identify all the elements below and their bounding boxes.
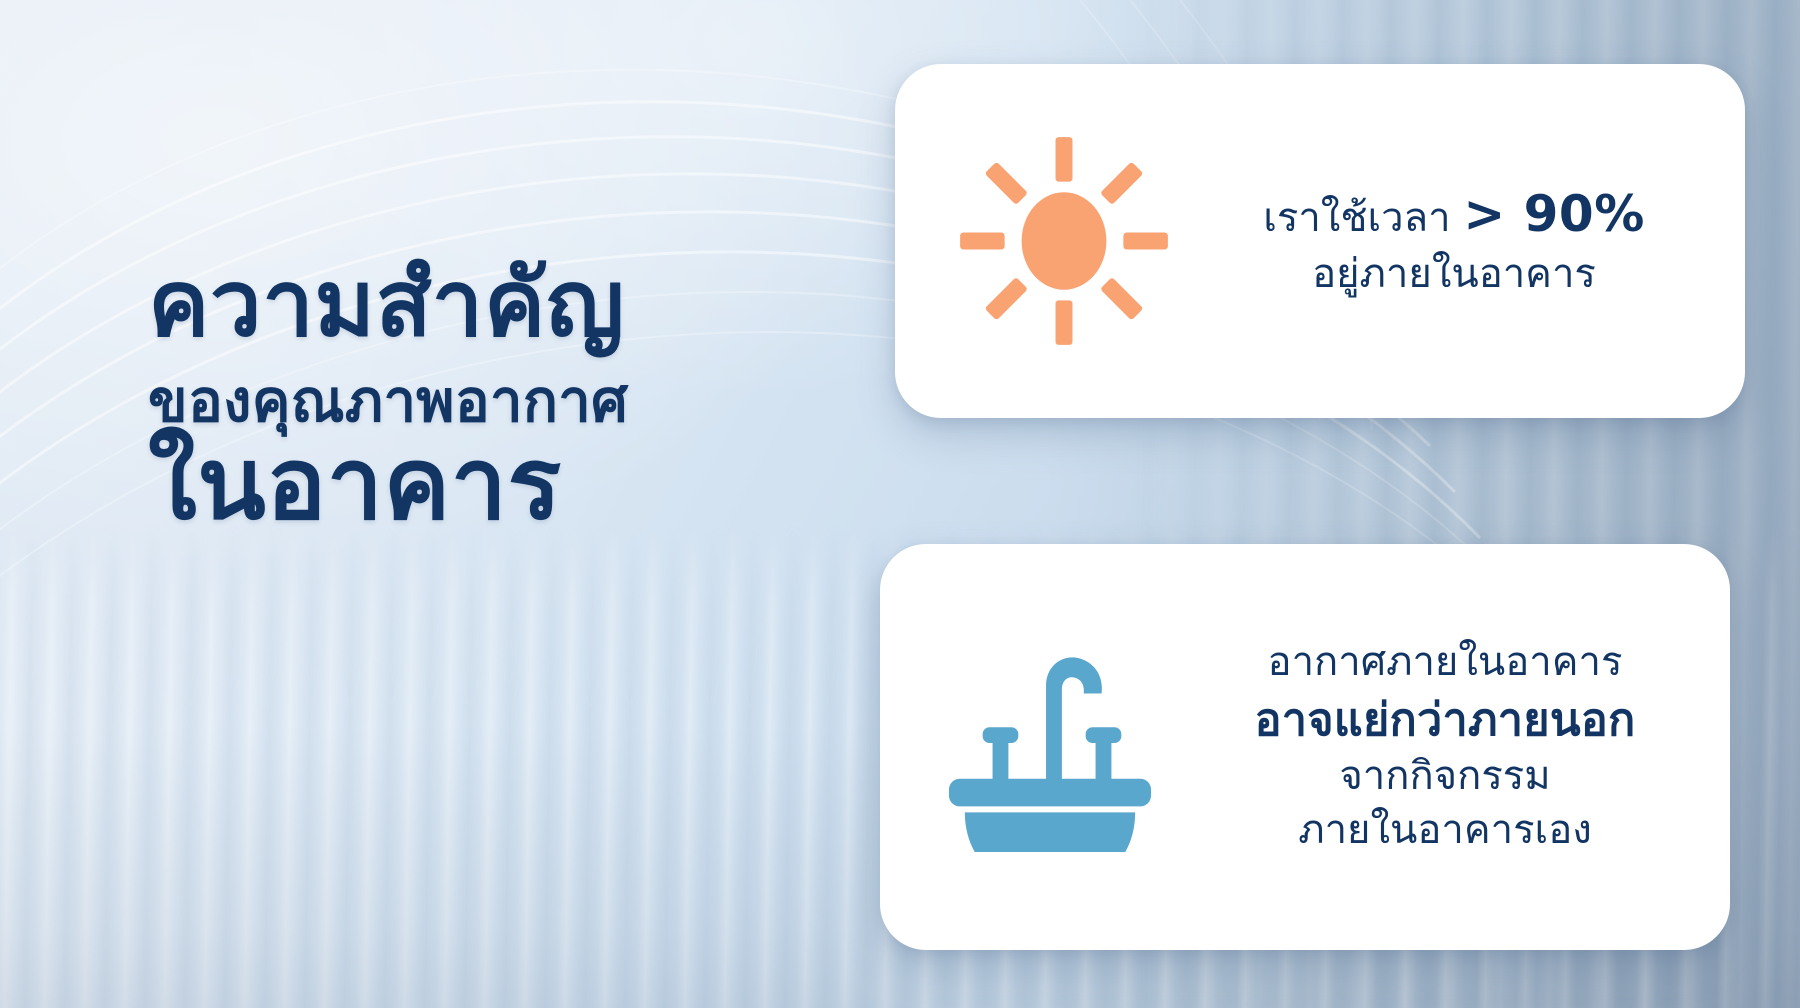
fact-card-indoor-time: เราใช้เวลา > 90% อยู่ภายในอาคาร: [895, 64, 1745, 418]
sun-icon: [939, 135, 1189, 347]
fact-card-indoor-time-text: เราใช้เวลา > 90% อยู่ภายในอาคาร: [1189, 181, 1719, 302]
headline-line-2: ของคุณภาพอากาศ: [148, 372, 788, 430]
fact-card-indoor-air-quality: อากาศภายในอาคาร อาจแย่กว่าภายนอก จากกิจก…: [880, 544, 1730, 950]
sink-faucet-icon: [914, 642, 1186, 852]
headline-line-1: ความสำคัญ: [148, 258, 788, 350]
page-title: ความสำคัญ ของคุณภาพอากาศ ในอาคาร: [148, 258, 788, 534]
fact-card-indoor-air-quality-text: อากาศภายในอาคาร อาจแย่กว่าภายนอก จากกิจก…: [1186, 636, 1704, 857]
card1-stat: > 90%: [1463, 185, 1644, 243]
card1-line-1: เราใช้เวลา > 90%: [1189, 181, 1719, 248]
card2-line-4: ภายในอาคารเอง: [1186, 804, 1704, 858]
poster-canvas: ความสำคัญ ของคุณภาพอากาศ ในอาคาร: [0, 0, 1800, 1008]
card2-line-2: อาจแย่กว่าภายนอก: [1186, 690, 1704, 750]
card1-prefix: เราใช้เวลา: [1263, 195, 1463, 241]
card2-line-3: จากกิจกรรม: [1186, 750, 1704, 804]
card2-line-1: อากาศภายในอาคาร: [1186, 636, 1704, 690]
card1-line-2: อยู่ภายในอาคาร: [1189, 248, 1719, 302]
headline-line-3: ในอาคาร: [148, 434, 788, 534]
